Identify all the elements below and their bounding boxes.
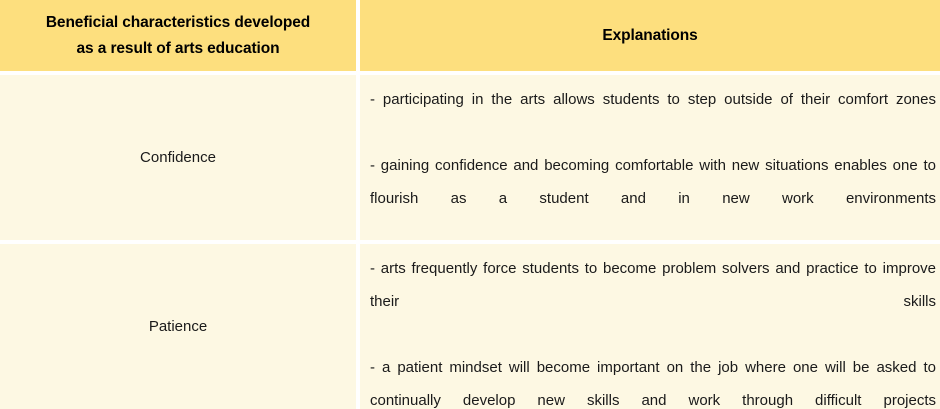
cell-characteristic: Confidence xyxy=(0,75,356,240)
characteristic-label: Patience xyxy=(149,318,207,335)
column-header-explanations: Explanations xyxy=(360,0,940,71)
table-row: Confidence - participating in the arts a… xyxy=(0,75,940,240)
beneficial-characteristics-table: Beneficial characteristics developed as … xyxy=(0,0,940,409)
table-row: Patience - arts frequently force student… xyxy=(0,244,940,409)
cell-characteristic: Patience xyxy=(0,244,356,409)
column-header-characteristics-line1: Beneficial characteristics developed xyxy=(46,14,310,31)
column-header-characteristics: Beneficial characteristics developed as … xyxy=(0,0,356,71)
explanation-bullet: - gaining confidence and becoming comfor… xyxy=(370,149,936,248)
characteristic-label: Confidence xyxy=(140,149,216,166)
explanation-bullet: - arts frequently force students to beco… xyxy=(370,252,936,351)
column-header-characteristics-line2: as a result of arts education xyxy=(77,40,280,57)
explanation-bullet: - participating in the arts allows stude… xyxy=(370,83,936,149)
column-header-explanations-label: Explanations xyxy=(602,23,697,49)
cell-explanations: - participating in the arts allows stude… xyxy=(360,75,940,240)
explanation-bullet: - a patient mindset will become importan… xyxy=(370,351,936,409)
table-header-row: Beneficial characteristics developed as … xyxy=(0,0,940,71)
cell-explanations: - arts frequently force students to beco… xyxy=(360,244,940,409)
